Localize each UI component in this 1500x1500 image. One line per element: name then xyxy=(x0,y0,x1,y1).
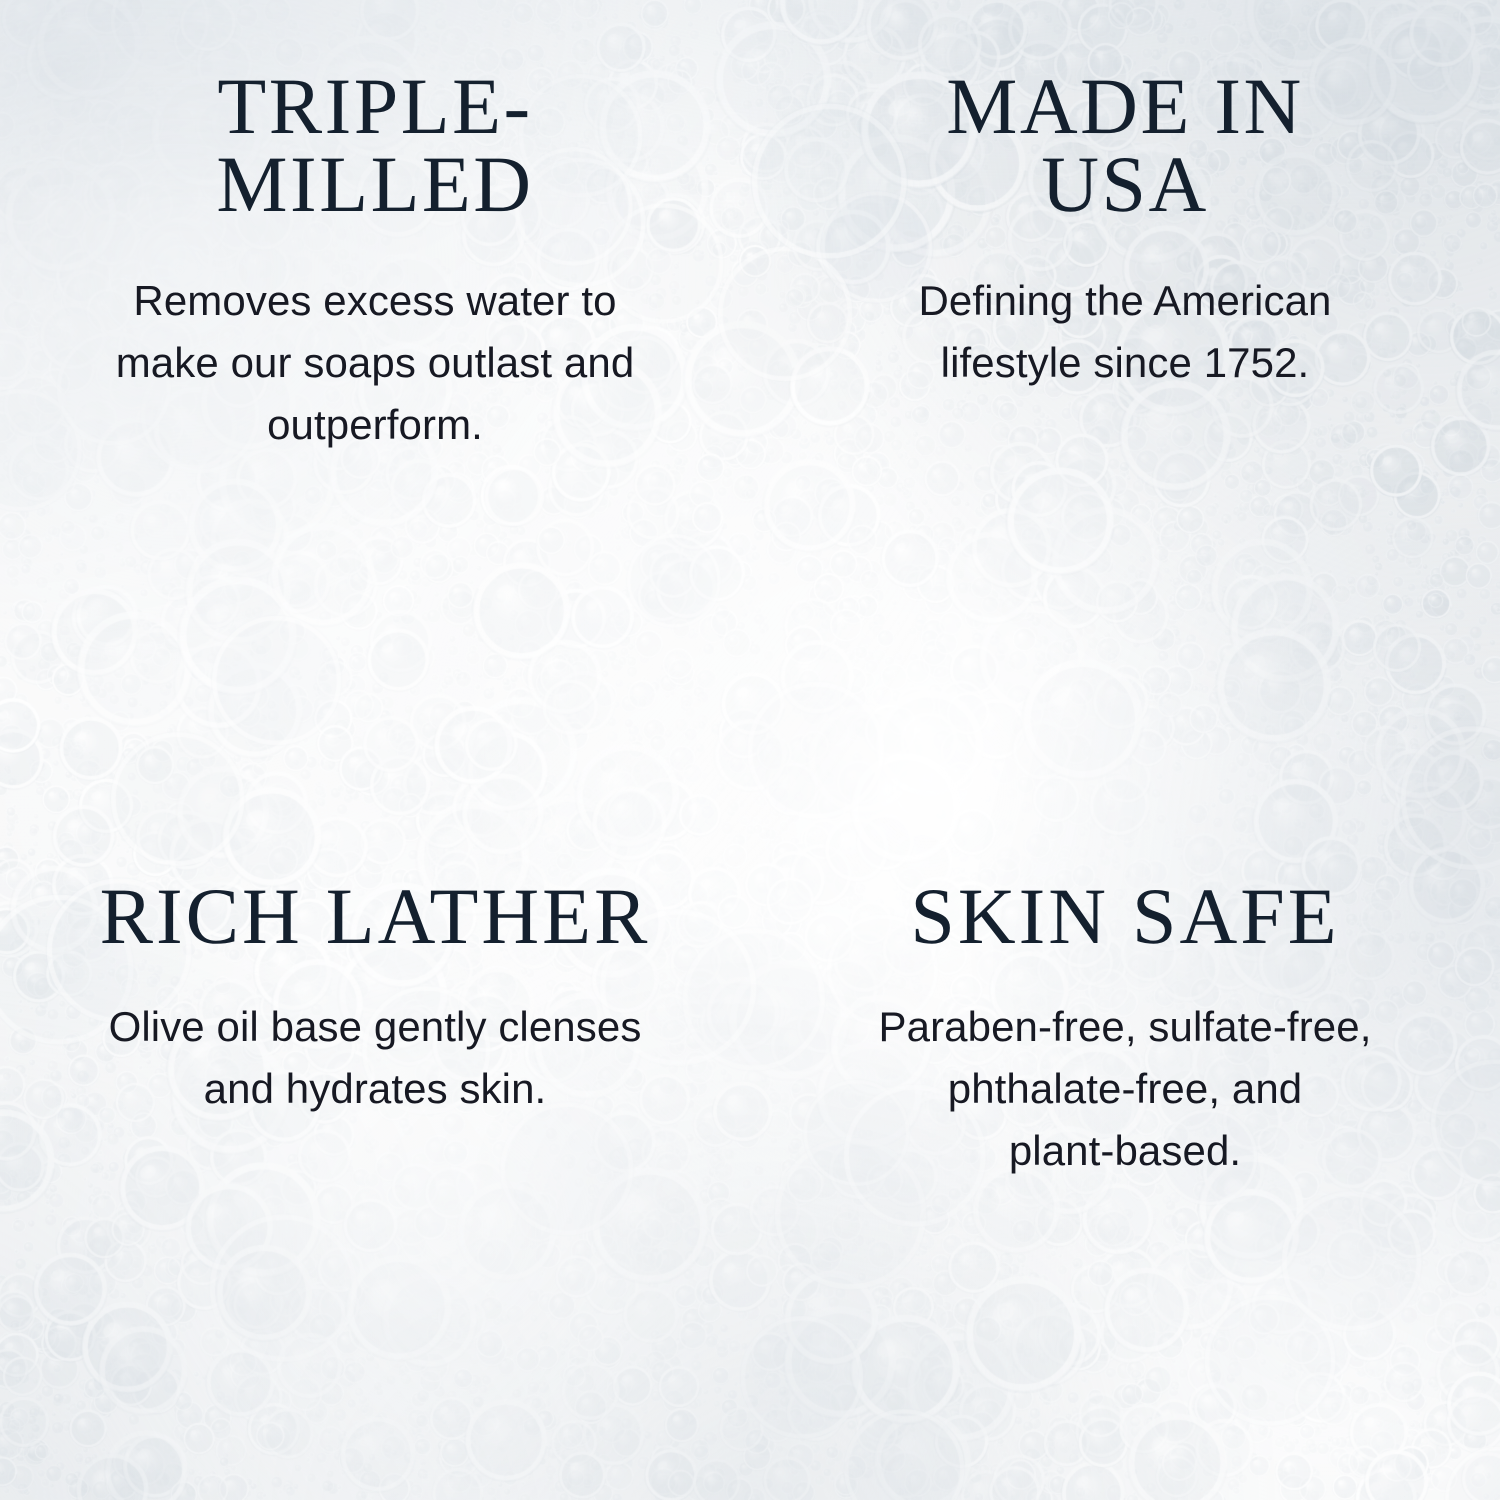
feature-body-skin-safe: Paraben-free, sulfate-free, phthalate-fr… xyxy=(879,996,1372,1182)
feature-body-rich-lather: Olive oil base gently clenses and hydrat… xyxy=(109,996,642,1120)
soap-feature-plate: TRIPLE- MILLED Removes excess water to m… xyxy=(0,0,1500,1500)
feature-heading-made-in-usa: MADE IN USA xyxy=(946,68,1303,224)
feature-body-made-in-usa: Defining the American lifestyle since 17… xyxy=(919,270,1332,394)
feature-body-triple-milled: Removes excess water to make our soaps o… xyxy=(116,270,635,456)
feature-made-in-usa: MADE IN USA Defining the American lifest… xyxy=(750,0,1500,750)
feature-heading-triple-milled: TRIPLE- MILLED xyxy=(216,68,533,224)
feature-skin-safe: SKIN SAFE Paraben-free, sulfate-free, ph… xyxy=(750,750,1500,1500)
feature-rich-lather: RICH LATHER Olive oil base gently clense… xyxy=(0,750,750,1500)
feature-heading-skin-safe: SKIN SAFE xyxy=(910,878,1339,956)
feature-heading-rich-lather: RICH LATHER xyxy=(100,878,651,956)
feature-grid: TRIPLE- MILLED Removes excess water to m… xyxy=(0,0,1500,1500)
feature-triple-milled: TRIPLE- MILLED Removes excess water to m… xyxy=(0,0,750,750)
